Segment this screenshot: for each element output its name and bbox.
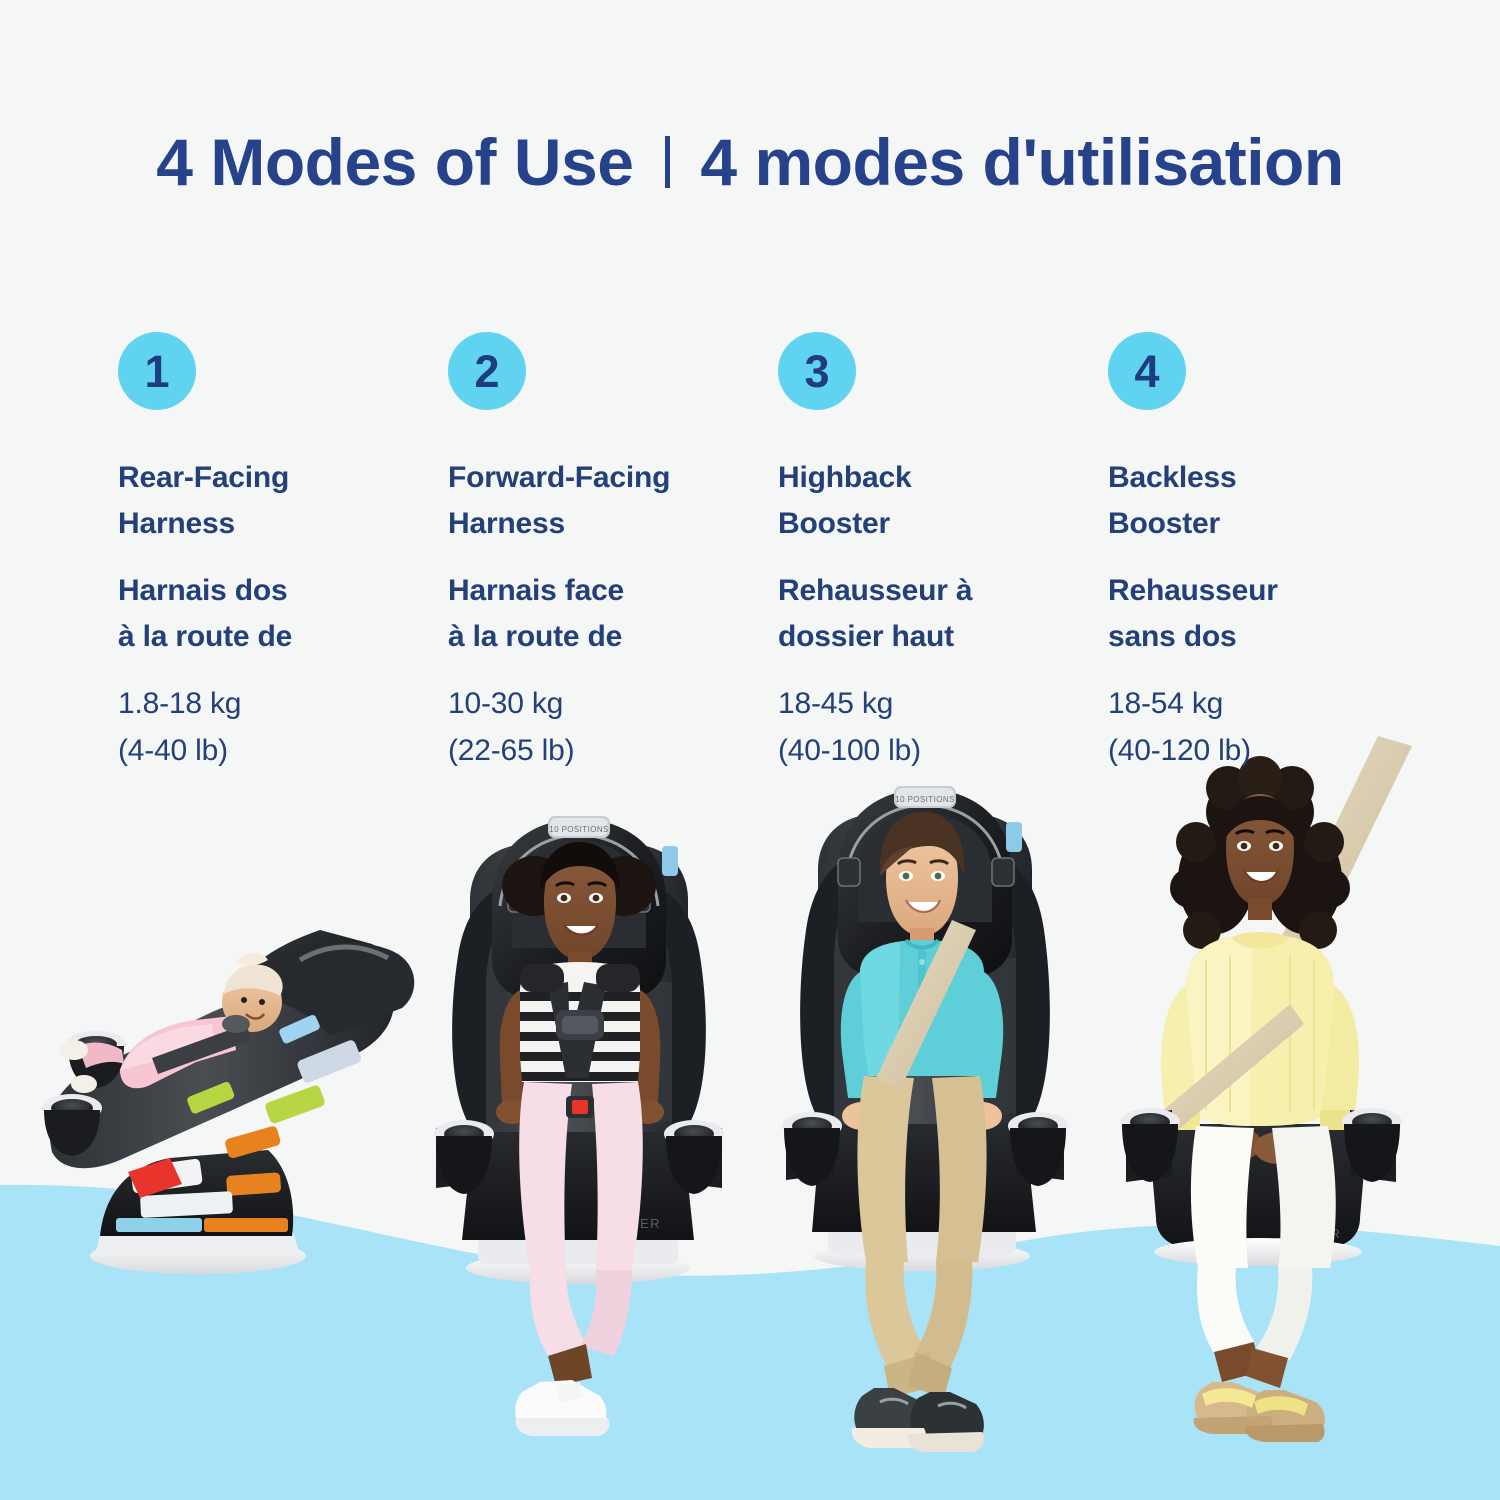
modes-list: 1 Rear-Facing Harness Harnais dos à la r… <box>118 332 1438 774</box>
mode-label-fr-3: Rehausseur à dossier haut <box>778 568 1108 659</box>
mode-label-en-3: Highback Booster <box>778 455 1108 546</box>
title-divider <box>665 136 670 188</box>
step-badge-2: 2 <box>448 332 526 410</box>
mode-label-fr-1: Harnais dos à la route de <box>118 568 448 659</box>
mode-label-en-4: Backless Booster <box>1108 455 1438 546</box>
step-number-4: 4 <box>1134 349 1159 394</box>
step-number-3: 3 <box>804 349 829 394</box>
mode-column-4: 4 Backless Booster Rehausseur sans dos 1… <box>1108 332 1438 774</box>
step-badge-4: 4 <box>1108 332 1186 410</box>
step-number-1: 1 <box>144 349 169 394</box>
page-title-en: 4 Modes of Use <box>156 129 633 195</box>
step-badge-3: 3 <box>778 332 856 410</box>
mode-label-fr-4: Rehausseur sans dos <box>1108 568 1438 659</box>
mode-label-en-2: Forward-Facing Harness <box>448 455 778 546</box>
mode-column-1: 1 Rear-Facing Harness Harnais dos à la r… <box>118 332 448 774</box>
step-number-2: 2 <box>474 349 499 394</box>
mode-label-fr-2: Harnais face à la route de <box>448 568 778 659</box>
mode-weight-1: 1.8-18 kg (4-40 lb) <box>118 681 448 774</box>
mode-column-3: 3 Highback Booster Rehausseur à dossier … <box>778 332 1108 774</box>
mode-weight-2: 10-30 kg (22-65 lb) <box>448 681 778 774</box>
mode-label-en-1: Rear-Facing Harness <box>118 455 448 546</box>
page-title-fr: 4 modes d'utilisation <box>700 129 1343 195</box>
mode-weight-3: 18-45 kg (40-100 lb) <box>778 681 1108 774</box>
mode-column-2: 2 Forward-Facing Harness Harnais face à … <box>448 332 778 774</box>
page-title: 4 Modes of Use 4 modes d'utilisation <box>0 129 1500 195</box>
step-badge-1: 1 <box>118 332 196 410</box>
mode-weight-4: 18-54 kg (40-120 lb) <box>1108 681 1438 774</box>
